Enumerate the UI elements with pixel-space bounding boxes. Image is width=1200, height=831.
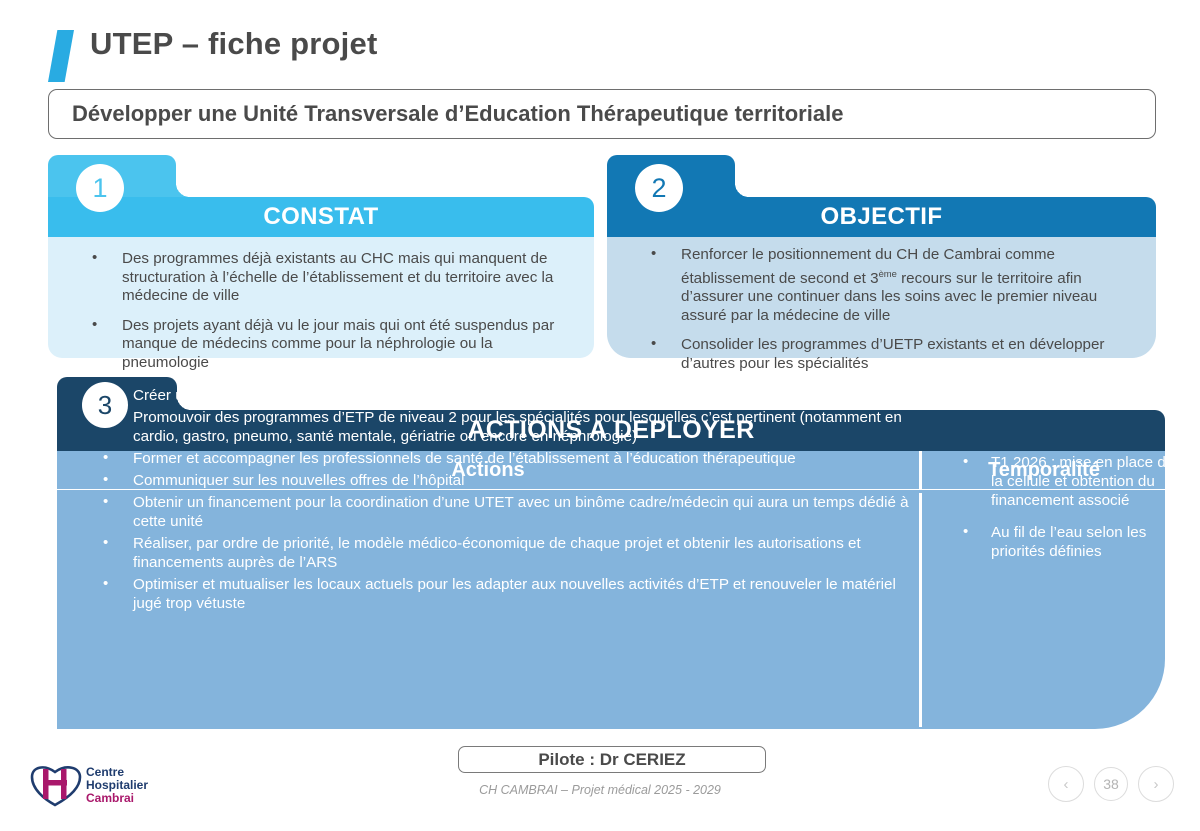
list-item: Former et accompagner les professionnels… bbox=[81, 449, 911, 468]
subtitle-text: Développer une Unité Transversale d’Educ… bbox=[72, 101, 843, 127]
list-item: Promouvoir des programmes d’ETP de nivea… bbox=[81, 408, 911, 446]
list-item: Optimiser et mutualiser les locaux actue… bbox=[81, 575, 911, 613]
hospital-heart-logo-icon bbox=[28, 763, 84, 807]
table-header-divider bbox=[919, 451, 922, 489]
table-column-divider bbox=[919, 493, 922, 727]
list-item: Consolider les programmes d’UETP existan… bbox=[629, 336, 1145, 373]
list-item: Obtenir un financement pour la coordinat… bbox=[81, 493, 911, 531]
panel-constat: CONSTAT 1 Des programmes déjà existants … bbox=[48, 155, 594, 358]
logo-line-3: Cambrai bbox=[86, 792, 148, 805]
pager: ‹ 38 › bbox=[1048, 766, 1178, 804]
list-item: Créer une cellule dédiée au développemen… bbox=[81, 386, 911, 405]
panel-constat-body: Des programmes déjà existants au CHC mai… bbox=[48, 237, 594, 358]
panel-objectif-banner: OBJECTIF bbox=[607, 197, 1156, 237]
panel-actions: ACTIONS A DEPLOYER 3 Actions Temporalité… bbox=[57, 377, 1165, 729]
slide-root: UTEP – fiche projet Développer une Unité… bbox=[0, 0, 1200, 831]
list-item: Réaliser, par ordre de priorité, le modè… bbox=[81, 534, 911, 572]
list-item: Des projets ayant déjà vu le jour mais q… bbox=[70, 317, 570, 373]
panel-objectif: OBJECTIF 2 Renforcer le positionnement d… bbox=[607, 155, 1156, 358]
list-item: Communiquer sur les nouvelles offres de … bbox=[81, 471, 911, 490]
panel-objectif-number: 2 bbox=[635, 164, 683, 212]
slide-title-row: UTEP – fiche projet bbox=[48, 28, 1158, 84]
panel-objectif-heading: OBJECTIF bbox=[607, 197, 1156, 237]
prev-page-button[interactable]: ‹ bbox=[1048, 766, 1084, 802]
list-item: Renforcer le positionnement du CH de Cam… bbox=[629, 246, 1145, 325]
objectif-bullet-list: Renforcer le positionnement du CH de Cam… bbox=[629, 246, 1145, 384]
constat-bullet-list: Des programmes déjà existants au CHC mai… bbox=[70, 250, 570, 383]
panel-constat-number: 1 bbox=[76, 164, 124, 212]
logo-wordmark: Centre Hospitalier Cambrai bbox=[86, 766, 148, 805]
pilote-box: Pilote : Dr CERIEZ bbox=[458, 746, 766, 773]
page-title: UTEP – fiche projet bbox=[90, 26, 377, 62]
pilote-text: Pilote : Dr CERIEZ bbox=[538, 750, 685, 770]
subtitle-box: Développer une Unité Transversale d’Educ… bbox=[48, 89, 1156, 139]
logo: Centre Hospitalier Cambrai bbox=[28, 763, 178, 811]
slash-accent-icon bbox=[48, 30, 74, 82]
next-page-button[interactable]: › bbox=[1138, 766, 1174, 802]
panel-objectif-body: Renforcer le positionnement du CH de Cam… bbox=[607, 237, 1156, 358]
list-item: Au fil de l’eau selon les priorités défi… bbox=[945, 523, 1175, 561]
footer-note: CH CAMBRAI – Projet médical 2025 - 2029 bbox=[0, 783, 1200, 797]
actions-bullet-list: Créer une cellule dédiée au développemen… bbox=[81, 386, 911, 616]
page-number: 38 bbox=[1094, 767, 1128, 801]
list-item: Des programmes déjà existants au CHC mai… bbox=[70, 250, 570, 306]
panel-constat-banner: CONSTAT bbox=[48, 197, 594, 237]
temporalite-bullet-list: T1 2026 : mise en place de la cellule et… bbox=[945, 453, 1175, 574]
list-item: T1 2026 : mise en place de la cellule et… bbox=[945, 453, 1175, 510]
panel-actions-number: 3 bbox=[82, 382, 128, 428]
panel-constat-heading: CONSTAT bbox=[48, 197, 594, 237]
